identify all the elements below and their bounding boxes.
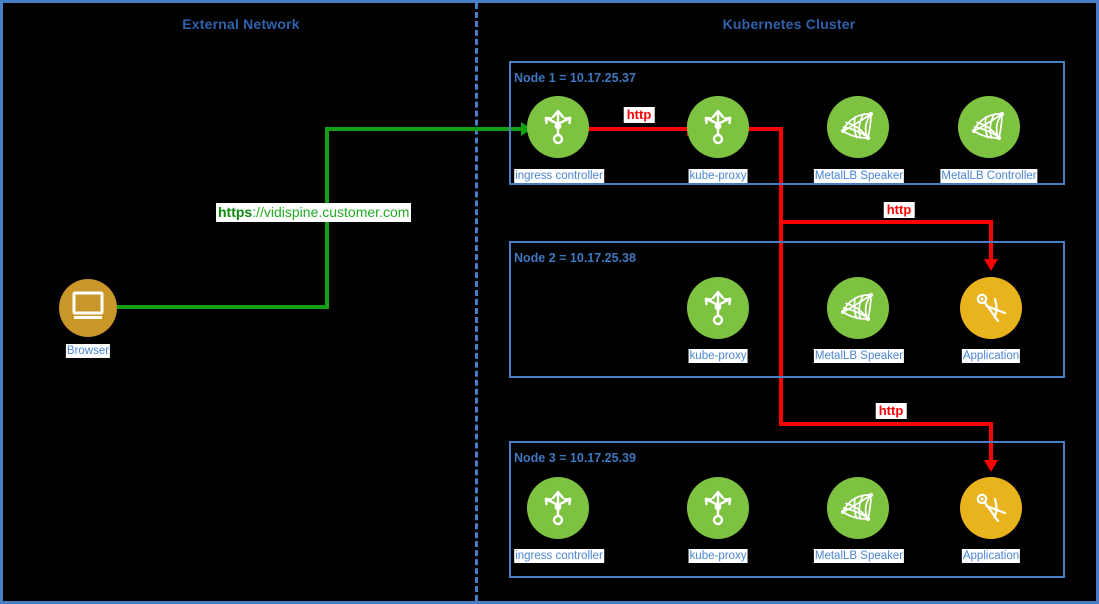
pod-label-node1-metallb-speaker: MetalLB Speaker <box>814 169 904 183</box>
compass-app-icon <box>971 488 1011 528</box>
pod-node3-kube-proxy[interactable] <box>687 477 749 539</box>
pod-node2-metallb-speaker[interactable] <box>827 277 889 339</box>
node-label-node2: Node 2 = 10.17.25.38 <box>514 251 636 265</box>
trident-proxy-icon <box>541 488 575 528</box>
trident-proxy-icon <box>701 488 735 528</box>
metallb-mesh-icon <box>838 490 878 526</box>
https-scheme: https <box>218 204 252 220</box>
browser-node[interactable] <box>59 279 117 337</box>
pod-node2-application[interactable] <box>960 277 1022 339</box>
pod-node1-ingress-controller[interactable] <box>527 96 589 158</box>
https-segment-horizontal-lower <box>117 305 329 309</box>
http-label-node2: http <box>884 202 915 218</box>
node-label-node3: Node 3 = 10.17.25.39 <box>514 451 636 465</box>
pod-node1-kube-proxy[interactable] <box>687 96 749 158</box>
metallb-mesh-icon <box>969 109 1009 145</box>
pod-node2-kube-proxy[interactable] <box>687 277 749 339</box>
metallb-mesh-icon <box>838 109 878 145</box>
pod-label-node3-application: Application <box>962 549 1020 563</box>
compass-app-icon <box>971 288 1011 328</box>
pod-label-node1-kube-proxy: kube-proxy <box>689 169 748 183</box>
pod-label-node1-metallb-controller: MetalLB Controller <box>940 169 1037 183</box>
http-branch-node2-horizontal <box>779 220 993 224</box>
pod-node1-metallb-speaker[interactable] <box>827 96 889 158</box>
pod-label-node2-metallb-speaker: MetalLB Speaker <box>814 349 904 363</box>
pod-label-node2-application: Application <box>962 349 1020 363</box>
monitor-icon <box>71 291 105 326</box>
pod-node3-application[interactable] <box>960 477 1022 539</box>
pod-label-node3-metallb-speaker: MetalLB Speaker <box>814 549 904 563</box>
zone-divider <box>475 3 478 601</box>
zone-title-external-network: External Network <box>182 16 300 32</box>
node-label-node1: Node 1 = 10.17.25.37 <box>514 71 636 85</box>
https-url-label: https://vidispine.customer.com <box>216 203 411 222</box>
pod-label-node3-ingress-controller: ingress controller <box>514 549 604 563</box>
http-label-node3: http <box>876 403 907 419</box>
zone-title-kubernetes-cluster: Kubernetes Cluster <box>723 16 856 32</box>
https-host: ://vidispine.customer.com <box>252 204 409 220</box>
metallb-mesh-icon <box>838 290 878 326</box>
pod-node3-metallb-speaker[interactable] <box>827 477 889 539</box>
pod-node1-metallb-controller[interactable] <box>958 96 1020 158</box>
pod-label-node2-kube-proxy: kube-proxy <box>689 349 748 363</box>
diagram-canvas: External Network Kubernetes Cluster Brow… <box>0 0 1099 604</box>
pod-node3-ingress-controller[interactable] <box>527 477 589 539</box>
http-branch-node3-horizontal <box>779 422 993 426</box>
https-segment-horizontal-upper <box>325 127 525 131</box>
trident-proxy-icon <box>701 107 735 147</box>
browser-label: Browser <box>66 344 110 358</box>
pod-label-node3-kube-proxy: kube-proxy <box>689 549 748 563</box>
trident-proxy-icon <box>701 288 735 328</box>
trident-proxy-icon <box>541 107 575 147</box>
pod-label-node1-ingress-controller: ingress controller <box>514 169 604 183</box>
